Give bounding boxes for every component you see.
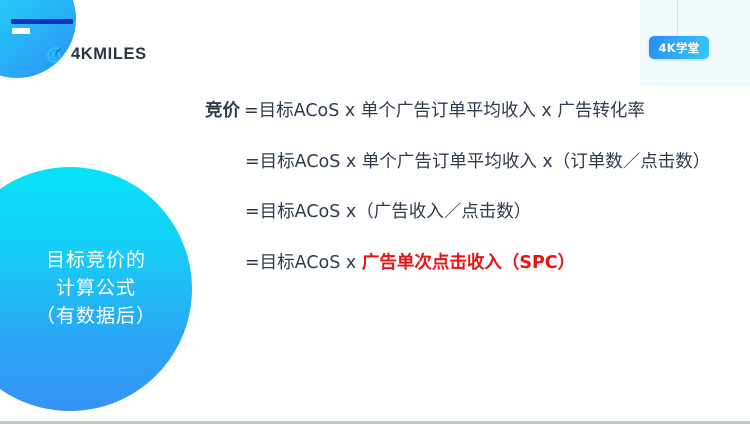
formula-line-4: =目标ACoS x 广告单次点击收入（SPC） — [245, 255, 745, 273]
formula-block: 竞价=目标ACoS x 单个广告订单平均收入 x 广告转化率 =目标ACoS x… — [205, 103, 745, 272]
spiral-swirl-icon — [45, 45, 64, 64]
course-badge-label: 4K学堂 — [658, 40, 699, 56]
brand-logo: 4KMILES — [45, 45, 147, 64]
formula-line-3-body: =目标ACoS x（广告收入／点击数） — [245, 202, 531, 222]
formula-line-1-body: =目标ACoS x 单个广告订单平均收入 x 广告转化率 — [244, 101, 645, 121]
corner-decoration-bar — [11, 19, 73, 24]
formula-line-3: =目标ACoS x（广告收入／点击数） — [245, 204, 745, 222]
formula-line-1: 竞价=目标ACoS x 单个广告订单平均收入 x 广告转化率 — [205, 103, 745, 121]
slide-canvas: 4KMILES 4K学堂 目标竞价的 计算公式 （有数据后） 竞价=目标ACoS… — [0, 0, 750, 424]
brand-name: 4KMILES — [71, 45, 147, 64]
course-badge[interactable]: 4K学堂 — [649, 36, 709, 59]
corner-decoration-notch — [12, 28, 30, 34]
circle-callout: 目标竞价的 计算公式 （有数据后） — [0, 167, 192, 411]
formula-line-2: =目标ACoS x 单个广告订单平均收入 x（订单数／点击数） — [245, 154, 745, 172]
circle-callout-line-1: 目标竞价的 — [0, 247, 192, 275]
circle-callout-line-2: 计算公式 — [0, 275, 192, 303]
corner-decoration-circle — [0, 0, 76, 78]
circle-callout-text: 目标竞价的 计算公式 （有数据后） — [0, 247, 192, 330]
formula-line-4-highlight: 广告单次点击收入（SPC） — [362, 253, 575, 273]
circle-callout-line-3: （有数据后） — [0, 303, 192, 331]
formula-line-1-label: 竞价 — [205, 101, 240, 121]
formula-line-2-body: =目标ACoS x 单个广告订单平均收入 x（订单数／点击数） — [245, 152, 710, 172]
formula-line-4-body: =目标ACoS x — [245, 253, 362, 273]
